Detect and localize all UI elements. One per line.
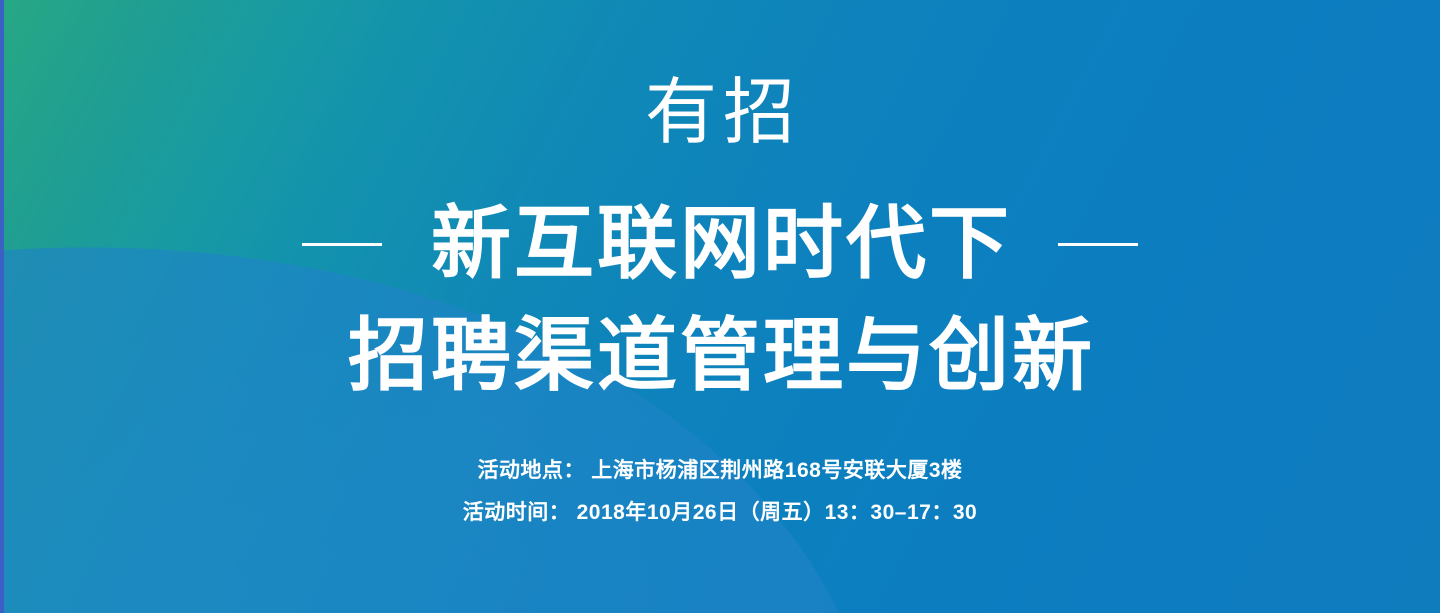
headline-line1: 新互联网时代下 <box>428 196 1012 292</box>
event-location: 活动地点： 上海市杨浦区荆州路168号安联大厦3楼 <box>0 450 1440 492</box>
event-time: 活动时间： 2018年10月26日（周五）13：30–17：30 <box>0 492 1440 534</box>
banner-content: 有招 新互联网时代下 招聘渠道管理与创新 活动地点： 上海市杨浦区荆州路168号… <box>0 0 1440 613</box>
brand-logo: 有招 <box>0 70 1440 156</box>
headline-line2: 招聘渠道管理与创新 <box>0 308 1440 404</box>
headline-line1-row: 新互联网时代下 <box>0 196 1440 292</box>
rule-right-icon <box>1058 243 1138 246</box>
rule-left-icon <box>302 243 382 246</box>
event-banner: 有招 新互联网时代下 招聘渠道管理与创新 活动地点： 上海市杨浦区荆州路168号… <box>0 0 1440 613</box>
event-details: 活动地点： 上海市杨浦区荆州路168号安联大厦3楼 活动时间： 2018年10月… <box>0 450 1440 534</box>
